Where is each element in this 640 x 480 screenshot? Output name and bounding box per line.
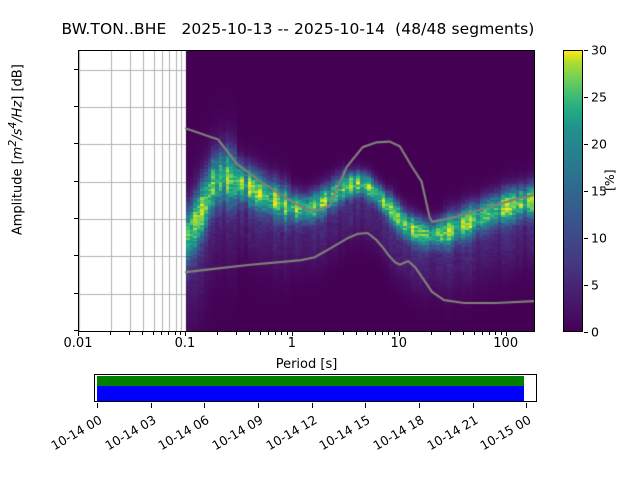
y-tick-mark — [74, 293, 78, 294]
timeline-tick-label: 10-14 12 — [258, 412, 319, 456]
ppsd-axes — [78, 50, 535, 332]
y-tick-mark — [74, 69, 78, 70]
x-minor-tick-mark — [287, 332, 288, 335]
x-tick-label: 0.1 — [175, 336, 196, 351]
colorbar-tick-label: 20 — [591, 137, 607, 152]
timeline-tick-mark — [151, 403, 152, 408]
colorbar-tick-mark — [584, 144, 588, 145]
timeline-tick-label: 10-14 03 — [97, 412, 158, 456]
timeline-tick-mark — [365, 403, 366, 408]
x-minor-tick-mark — [382, 332, 383, 335]
x-minor-tick-mark — [388, 332, 389, 335]
x-minor-tick-mark — [168, 332, 169, 335]
y-tick-mark — [74, 181, 78, 182]
timeline-tick-label: 10-15 00 — [472, 412, 533, 456]
x-minor-tick-mark — [450, 332, 451, 335]
data-coverage-green — [97, 376, 524, 386]
x-minor-tick-mark — [495, 332, 496, 335]
timeline-tick-mark — [473, 403, 474, 408]
colorbar-tick-mark — [584, 191, 588, 192]
x-minor-tick-mark — [431, 332, 432, 335]
x-minor-tick-mark — [175, 332, 176, 335]
x-minor-tick-mark — [367, 332, 368, 335]
timeline-tick-mark — [258, 403, 259, 408]
x-minor-tick-mark — [217, 332, 218, 335]
data-coverage-timeline — [94, 374, 537, 402]
x-minor-tick-mark — [482, 332, 483, 335]
x-minor-tick-mark — [474, 332, 475, 335]
x-minor-tick-mark — [463, 332, 464, 335]
timeline-tick-mark — [419, 403, 420, 408]
x-minor-tick-mark — [161, 332, 162, 335]
y-tick-mark — [74, 255, 78, 256]
timeline-tick-label: 10-14 00 — [43, 412, 104, 456]
x-minor-tick-mark — [394, 332, 395, 335]
x-tick-label: 10 — [390, 336, 407, 351]
timeline-tick-label: 10-14 15 — [312, 412, 373, 456]
plot-title: BW.TON..BHE 2025-10-13 -- 2025-10-14 (48… — [0, 20, 596, 38]
colorbar-tick-mark — [584, 285, 588, 286]
x-minor-tick-mark — [129, 332, 130, 335]
colorbar-tick-mark — [584, 238, 588, 239]
x-minor-tick-mark — [489, 332, 490, 335]
x-minor-tick-mark — [375, 332, 376, 335]
colorbar-tick-mark — [584, 50, 588, 51]
colorbar — [563, 50, 583, 332]
timeline-tick-mark — [526, 403, 527, 408]
data-coverage-blue — [97, 386, 524, 401]
colorbar-tick-mark — [584, 332, 588, 333]
y-tick-mark — [74, 143, 78, 144]
x-minor-tick-mark — [249, 332, 250, 335]
y-tick-mark — [74, 330, 78, 331]
x-minor-tick-mark — [268, 332, 269, 335]
x-tick-label: 100 — [493, 336, 518, 351]
x-minor-tick-mark — [260, 332, 261, 335]
colorbar-tick-label: 0 — [591, 325, 599, 340]
x-minor-tick-mark — [236, 332, 237, 335]
timeline-tick-label: 10-14 09 — [204, 412, 265, 456]
x-tick-label: 0.01 — [64, 336, 93, 351]
timeline-tick-label: 10-14 06 — [151, 412, 212, 456]
colorbar-tick-label: 25 — [591, 90, 607, 105]
timeline-tick-label: 10-14 21 — [419, 412, 480, 456]
timeline-tick-mark — [312, 403, 313, 408]
x-minor-tick-mark — [153, 332, 154, 335]
x-tick-label: 1 — [288, 336, 296, 351]
x-minor-tick-mark — [281, 332, 282, 335]
x-minor-tick-mark — [343, 332, 344, 335]
x-axis-label: Period [s] — [78, 357, 535, 372]
y-axis-label: Amplitude [m2/s4/Hz] [dB] — [6, 0, 25, 360]
colorbar-tick-label: 30 — [591, 43, 607, 58]
timeline-tick-mark — [97, 403, 98, 408]
x-minor-tick-mark — [110, 332, 111, 335]
x-minor-tick-mark — [275, 332, 276, 335]
timeline-tick-mark — [204, 403, 205, 408]
y-tick-mark — [74, 218, 78, 219]
x-minor-tick-mark — [142, 332, 143, 335]
timeline-tick-label: 10-14 18 — [365, 412, 426, 456]
colorbar-tick-mark — [584, 97, 588, 98]
x-minor-tick-mark — [324, 332, 325, 335]
y-axis-label-text: Amplitude [m2/s4/Hz] [dB] — [11, 64, 26, 235]
x-minor-tick-mark — [356, 332, 357, 335]
x-minor-tick-mark — [501, 332, 502, 335]
colorbar-label: [%] — [602, 169, 617, 191]
colorbar-tick-label: 5 — [591, 278, 599, 293]
x-minor-tick-mark — [180, 332, 181, 335]
y-tick-mark — [74, 106, 78, 107]
noise-model-curves — [79, 51, 534, 331]
colorbar-tick-label: 10 — [591, 231, 607, 246]
